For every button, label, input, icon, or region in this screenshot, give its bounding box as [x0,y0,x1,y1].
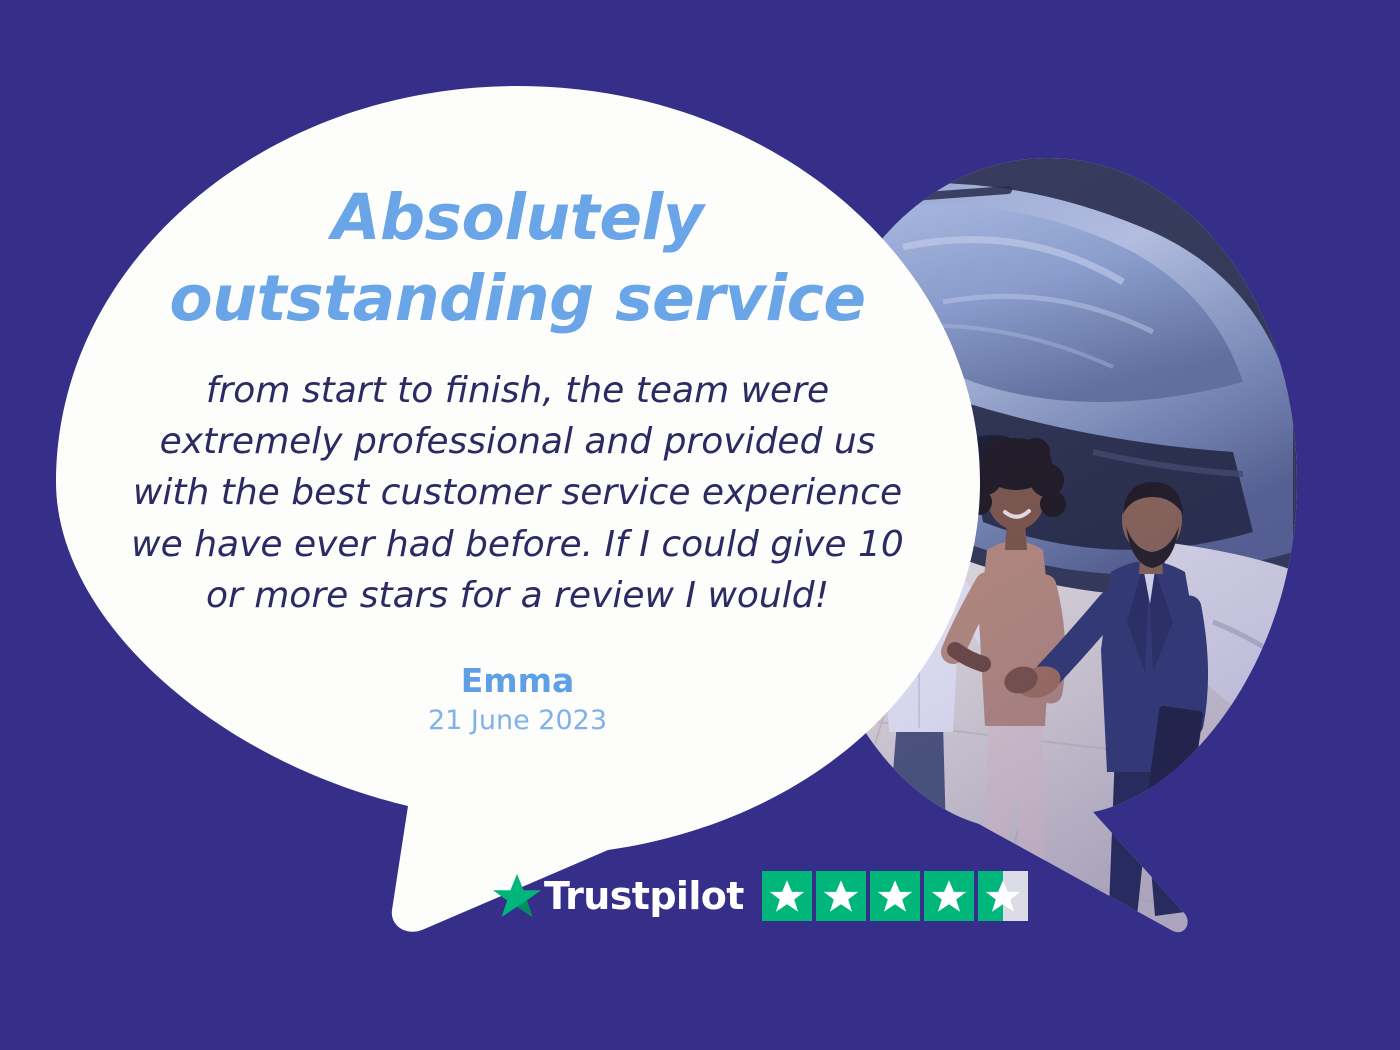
trustpilot-rating[interactable]: Trustpilot [492,868,1028,924]
review-graphic-canvas: Absolutely outstanding service from star… [0,0,1400,1050]
trustpilot-star-icon [492,872,542,920]
star-3-full [870,871,920,921]
star-4-full [924,871,974,921]
star-2-full [816,871,866,921]
quote-speech-bubble [48,78,988,948]
trustpilot-wordmark: Trustpilot [544,877,744,915]
trustpilot-star-rating [762,871,1028,921]
star-1-full [762,871,812,921]
trustpilot-logo: Trustpilot [492,872,744,920]
star-5-half [978,871,1028,921]
